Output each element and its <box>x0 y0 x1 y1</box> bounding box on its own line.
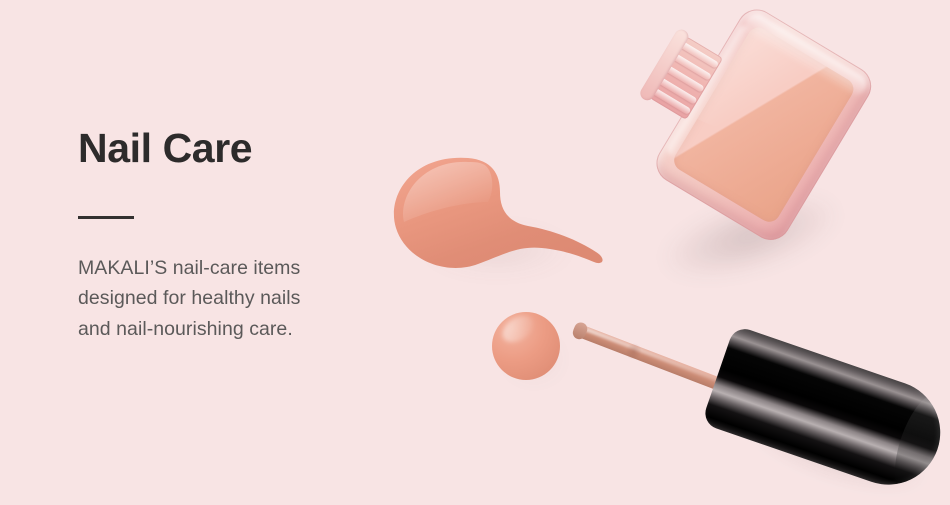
bottle-cap <box>701 325 950 499</box>
description-text: MAKALI’S nail-care items designed for he… <box>78 253 398 344</box>
brush-handle-gloss <box>580 326 727 386</box>
droplet-highlight <box>498 310 538 347</box>
page-title: Nail Care <box>78 126 398 171</box>
copy-block: Nail Care MAKALI’S nail-care items desig… <box>78 126 398 344</box>
polish-droplet <box>492 312 568 388</box>
brush-handle <box>571 321 734 397</box>
nail-care-banner: Nail Care MAKALI’S nail-care items desig… <box>0 0 950 505</box>
polish-brush-applicator <box>560 296 950 496</box>
cap-right-end <box>885 388 950 499</box>
nail-polish-bottle <box>598 14 898 284</box>
droplet-shape <box>492 312 560 380</box>
title-divider <box>78 216 134 219</box>
